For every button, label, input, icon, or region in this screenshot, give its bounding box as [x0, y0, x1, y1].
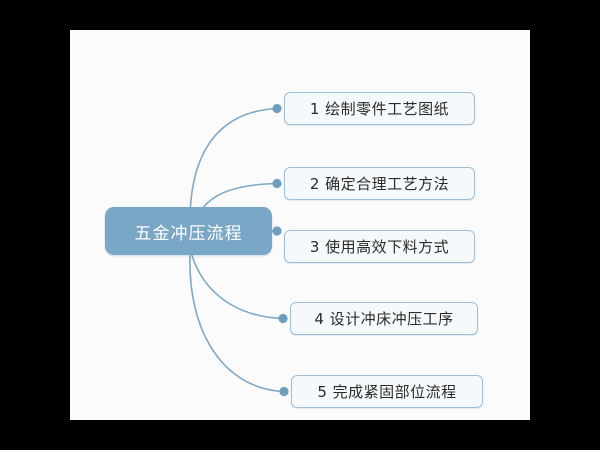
connector-to-branch-4	[191, 252, 282, 319]
endpoint-dot-branch-2	[272, 179, 281, 188]
endpoint-dot-branch-1	[272, 104, 281, 113]
mindmap-branch-node-3[interactable]: 3 使用高效下料方式	[284, 230, 475, 263]
mindmap-branch-node-4[interactable]: 4 设计冲床冲压工序	[290, 302, 478, 335]
endpoint-dot-branch-5	[279, 387, 288, 396]
mindmap-branch-node-5[interactable]: 5 完成紧固部位流程	[291, 375, 483, 408]
endpoint-dot-branch-4	[278, 314, 287, 323]
mindmap-branch-node-2[interactable]: 2 确定合理工艺方法	[284, 167, 475, 200]
connector-to-branch-5	[190, 256, 283, 392]
screenshot-frame: 五金冲压流程 1 绘制零件工艺图纸 2 确定合理工艺方法 3 使用高效下料方式 …	[0, 0, 600, 450]
mindmap-root-node[interactable]: 五金冲压流程	[105, 207, 272, 255]
endpoint-dot-branch-3	[272, 226, 281, 235]
mindmap-branch-node-1[interactable]: 1 绘制零件工艺图纸	[284, 92, 475, 125]
mindmap-canvas[interactable]: 五金冲压流程 1 绘制零件工艺图纸 2 确定合理工艺方法 3 使用高效下料方式 …	[70, 30, 530, 420]
